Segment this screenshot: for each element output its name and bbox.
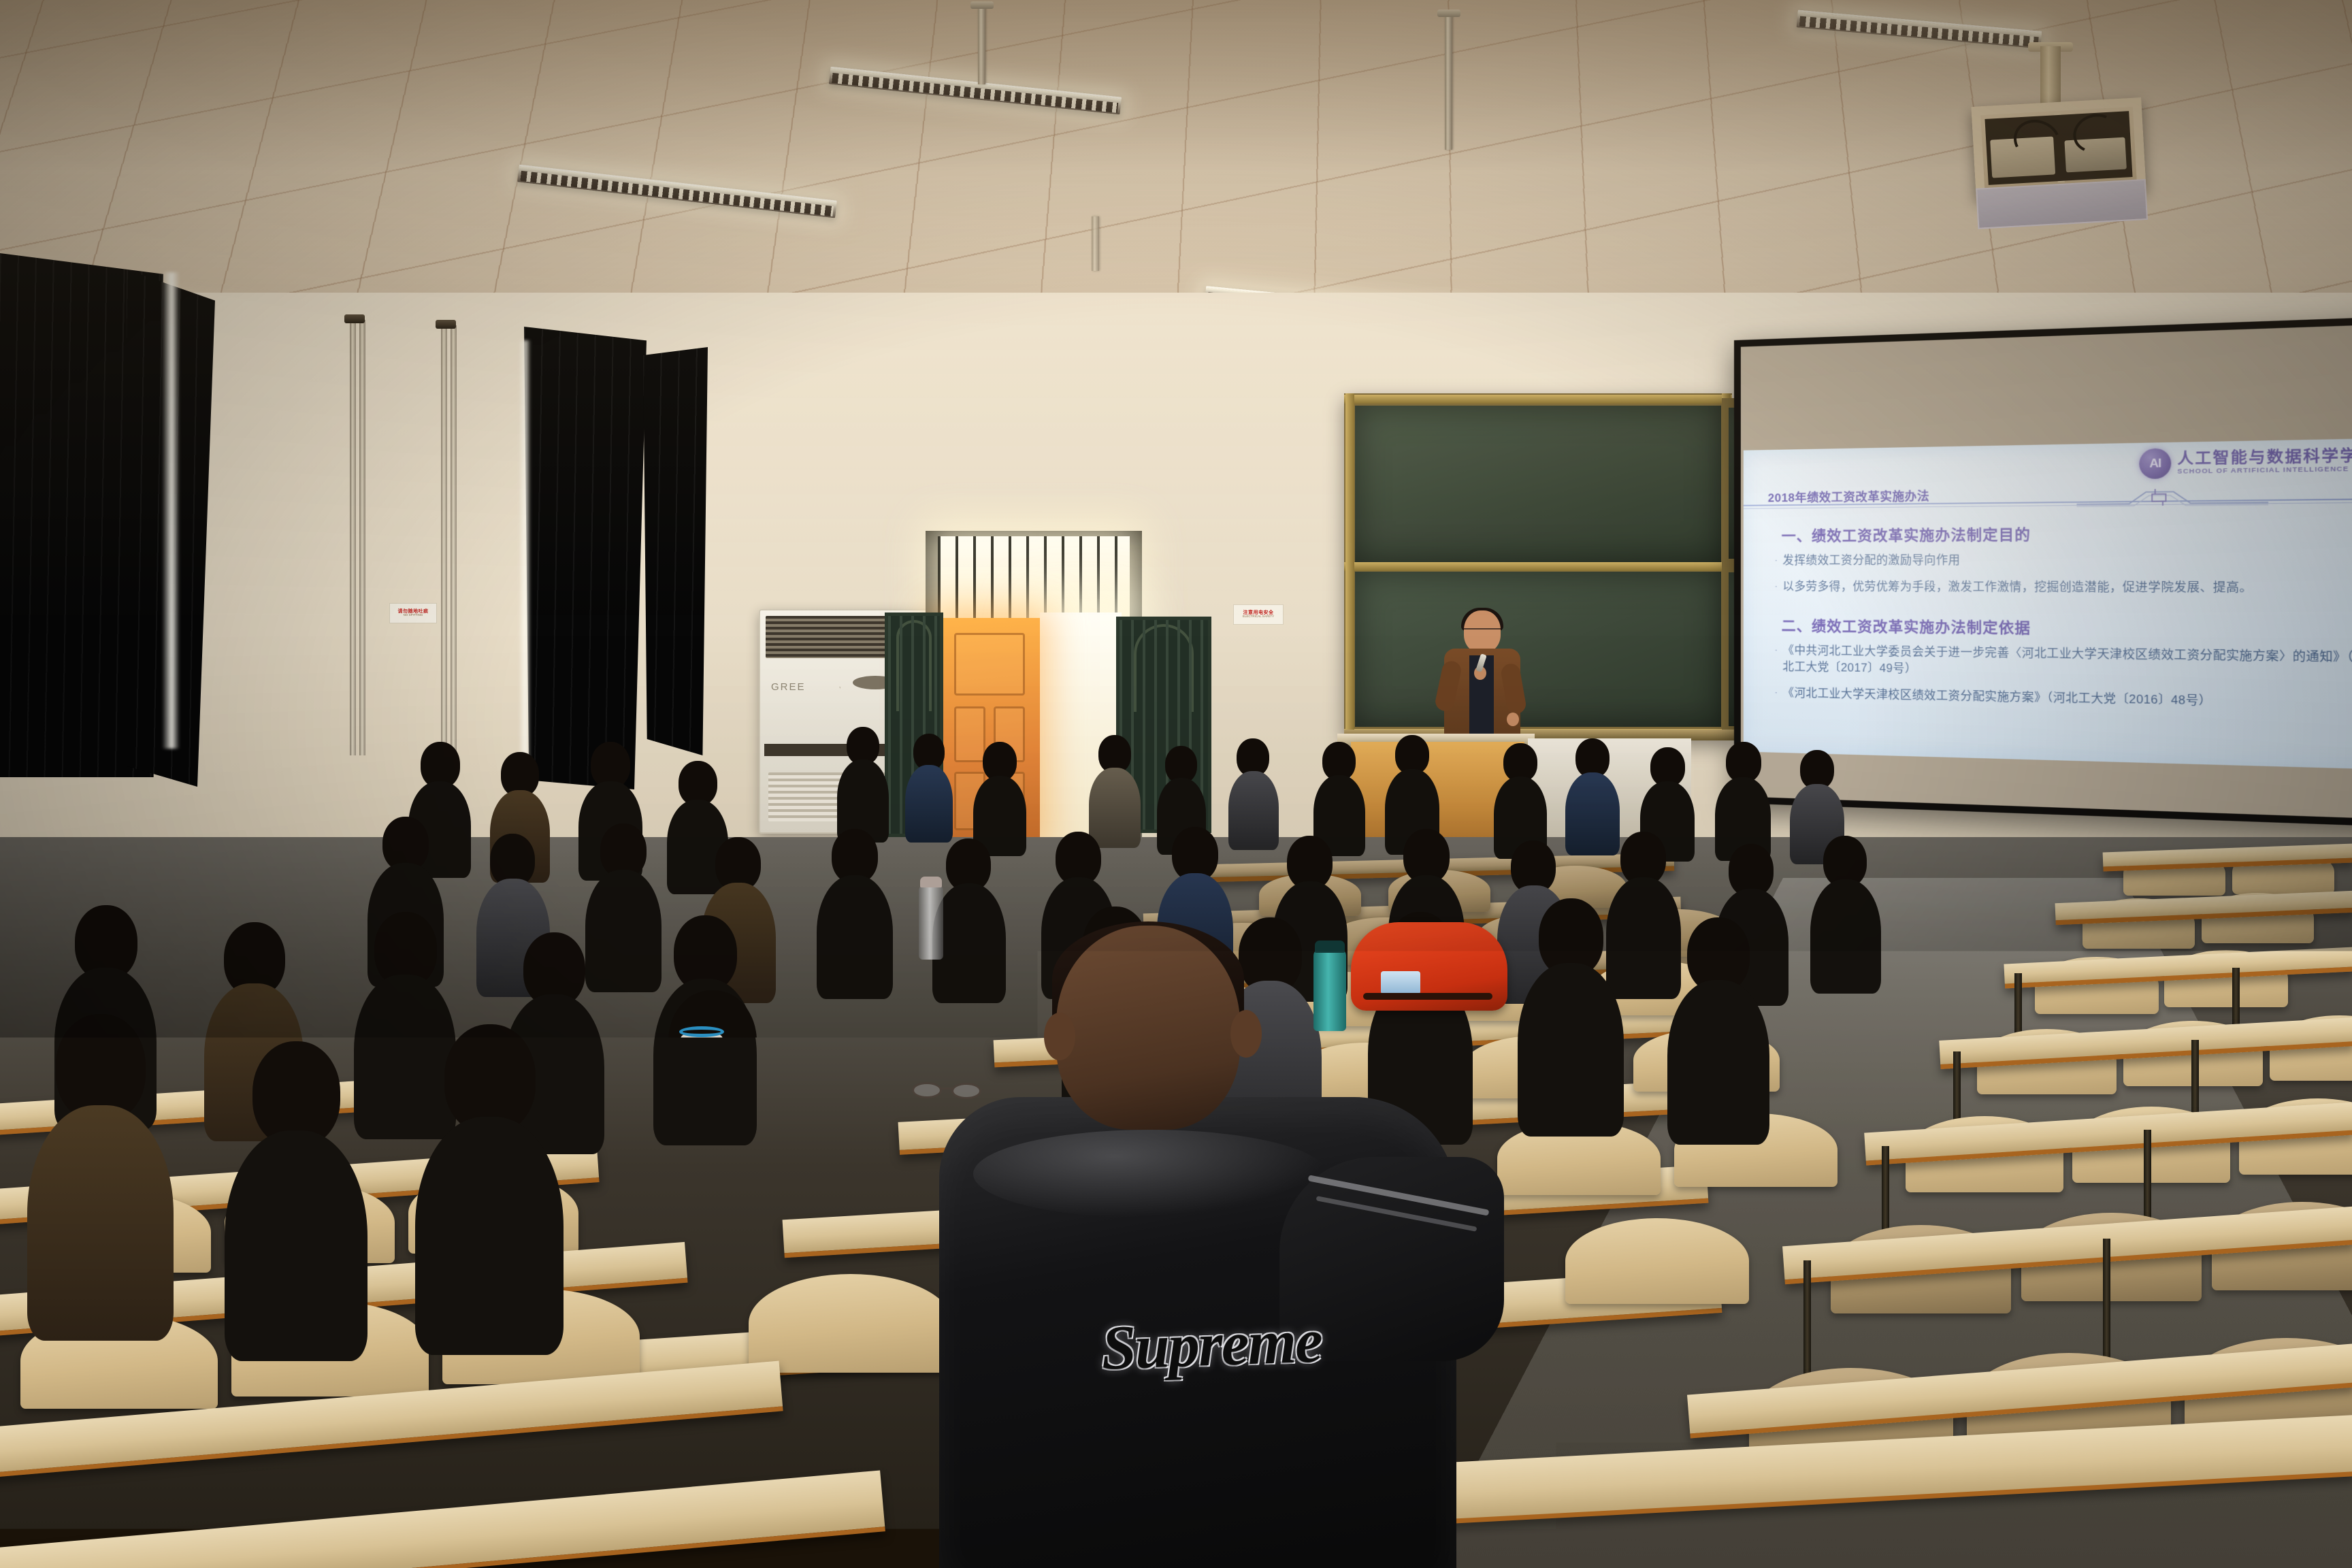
foreground-ear [1230, 1010, 1262, 1058]
presenter-hand [1507, 713, 1519, 726]
audience-member [27, 1014, 174, 1341]
person-torso [225, 1130, 367, 1361]
slide-bullet-text: 发挥绩效工资分配的激励导向作用 [1782, 551, 2352, 569]
wall-pipe-bracket [436, 320, 456, 329]
ceiling-pipe-drop [978, 5, 985, 84]
barcelona-cap: BARCELONA [687, 1109, 871, 1201]
slide-section-heading-2: 二、绩效工资改革实施办法制定依据 [1782, 615, 2352, 641]
slide-bullet: · 《中共河北工业大学委员会关于进一步完善〈河北工业大学天津校区绩效工资分配实施… [1775, 642, 2352, 685]
door-transom-window [938, 536, 1130, 618]
audience-member [1667, 917, 1769, 1145]
person-torso [1518, 963, 1624, 1137]
presentation-slide: 2018年绩效工资改革实施办法 AI 人 [1744, 438, 2352, 770]
ac-brand-label: GREE [771, 681, 806, 693]
bullet-marker-icon: · [1775, 578, 1778, 595]
projector-mount-stem [2040, 46, 2061, 109]
presenter-glasses [1464, 628, 1501, 634]
curtain-light-leak [519, 340, 531, 762]
projection-screen-surface: 2018年绩效工资改革实施办法 AI 人 [1741, 324, 2352, 819]
person-head [1726, 742, 1761, 783]
ceiling-pipe-cap [1437, 10, 1460, 17]
desk-leg [2191, 1040, 2199, 1122]
foreground-person: Supreme [898, 926, 1511, 1568]
grille-arch-detail [1134, 624, 1194, 712]
bottle-collar [676, 1060, 727, 1065]
wall-sign-en: ELECTRICAL SAFETY [1243, 615, 1274, 619]
chalkboard-upper-panel [1355, 406, 1721, 562]
person-torso [817, 875, 893, 999]
person-torso [1810, 879, 1881, 994]
bullet-marker-icon: · [1775, 685, 1778, 702]
foreground-ear [1044, 1013, 1075, 1060]
audience-member [1810, 836, 1881, 994]
lecture-hall-photo: 请勿随地吐痰 NO SPITTING 注意用电安全 ELECTRICAL SAF… [0, 0, 2352, 1568]
audience-member [1518, 898, 1624, 1137]
slide-bullet: · 发挥绩效工资分配的激励导向作用 [1775, 551, 2352, 569]
slide-header: 2018年绩效工资改革实施办法 AI 人 [1744, 438, 2352, 510]
school-logo: AI 人工智能与数据科学学院 SCHOOL OF ARTIFICIAL INTE… [2139, 444, 2352, 479]
wall-pipe [359, 320, 365, 755]
bottle-ring-icon [679, 1026, 724, 1037]
person-torso [905, 765, 953, 843]
person-torso [1228, 771, 1279, 850]
projector-cage-interior [1984, 111, 2132, 185]
chalkboard-frame-left [1345, 393, 1354, 739]
ceiling-pipe-drop [1445, 14, 1452, 150]
bullet-marker-icon: · [1775, 642, 1778, 676]
person-torso [27, 1105, 174, 1341]
desk-leg [2144, 1130, 2151, 1228]
chalkboard [1344, 393, 1732, 739]
slide-bullet-text: 《河北工业大学天津校区绩效工资分配实施方案》（河北工大党〔2016〕48号） [1782, 685, 2352, 713]
slide-bullet-text: 《中共河北工业大学委员会关于进一步完善〈河北工业大学天津校区绩效工资分配实施方案… [1782, 642, 2352, 685]
desk-leg [1803, 1260, 1811, 1383]
person-torso [1667, 980, 1769, 1145]
slide-bullet-text: 以多劳多得，优劳优筹为手段，激发工作激情，挖掘创造潜能，促进学院发展、提高。 [1782, 578, 2352, 598]
wall-safety-sign: 请勿随地吐痰 NO SPITTING [389, 603, 437, 623]
ai-badge-icon: AI [2139, 448, 2171, 478]
blackout-curtain-mid [524, 327, 647, 789]
fcb-crest-icon [841, 1172, 867, 1199]
school-name-cn: 人工智能与数据科学学院 [2177, 448, 2352, 468]
chalkboard-lower-panel [1355, 572, 1721, 727]
chair-back [1565, 1218, 1749, 1304]
audience-member [817, 829, 893, 999]
door-panel [954, 633, 1025, 696]
slide-body: 一、绩效工资改革实施办法制定目的 · 发挥绩效工资分配的激励导向作用 · 以多劳… [1744, 510, 2352, 770]
audience-member [837, 727, 889, 843]
presenter [1441, 610, 1523, 747]
curtain-light-leak [162, 272, 180, 749]
wall-pipe [441, 325, 447, 754]
audience-member [1228, 738, 1279, 850]
circuit-decoration-icon [2076, 486, 2268, 507]
wall-safety-sign: 注意用电安全 ELECTRICAL SAFETY [1233, 604, 1284, 625]
ceiling-pipe-cap [970, 1, 994, 9]
chalkboard-frame-mid [1344, 562, 1732, 571]
bullet-marker-icon: · [1775, 553, 1778, 570]
wall-pipe-bracket [344, 314, 365, 323]
jacket-shoulder-highlight [973, 1130, 1327, 1218]
desk-leg [2103, 1239, 2110, 1361]
bottle-cap [920, 877, 942, 887]
audience-member [1715, 742, 1771, 861]
wall-pipe [451, 325, 457, 754]
chalkboard-frame-top [1344, 395, 1732, 404]
slide-bullet: · 以多劳多得，优劳优筹为手段，激发工作激情，挖掘创造潜能，促进学院发展、提高。 [1775, 578, 2352, 598]
audience-member [905, 734, 953, 843]
ceiling-pipe-drop [1092, 216, 1099, 271]
foreground-head [1056, 926, 1240, 1130]
slide-bullet: · 《河北工业大学天津校区绩效工资分配实施方案》（河北工大党〔2016〕48号） [1775, 685, 2352, 713]
wall-pipe [350, 320, 356, 755]
person-torso [415, 1117, 563, 1355]
projector-cage [1971, 97, 2146, 199]
wall-sign-en: NO SPITTING [404, 614, 423, 617]
supreme-logo: Supreme [1060, 1301, 1362, 1386]
grille-arch-detail [896, 620, 932, 711]
audience-member [225, 1041, 367, 1361]
audience-member [415, 1024, 563, 1355]
slide-section-heading-1: 一、绩效工资改革实施办法制定目的 [1782, 521, 2352, 545]
slide-header-title: 2018年绩效工资改革实施办法 [1768, 486, 1930, 505]
blackout-curtain-right [643, 347, 708, 755]
